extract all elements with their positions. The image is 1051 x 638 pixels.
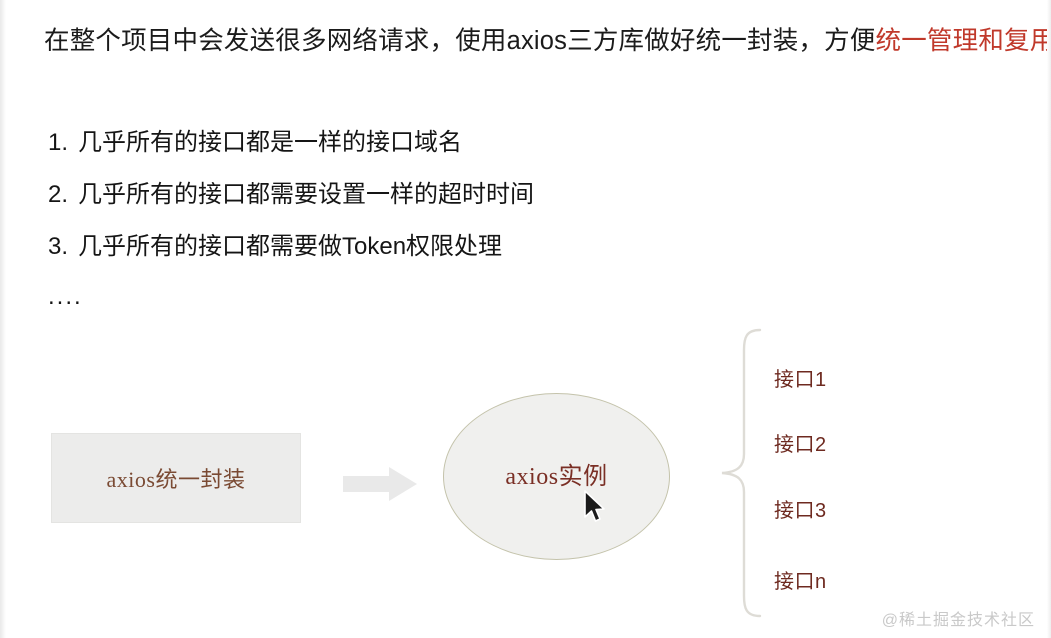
- list-item-label: 几乎所有的接口都是一样的接口域名: [78, 129, 462, 156]
- interface-label-n: 接口n: [774, 565, 827, 594]
- page-title: 在整个项目中会发送很多网络请求，使用axios三方库做好统一封装，方便统一管理和…: [44, 24, 1044, 58]
- page-title-accent: 统一管理和复用: [876, 27, 1051, 55]
- interface-label-1: 接口1: [774, 363, 827, 392]
- axios-wrapper-box-label: axios统一封装: [107, 462, 246, 494]
- list-item-number: 2.: [48, 180, 78, 210]
- interface-label-3: 接口3: [774, 494, 827, 523]
- list-item-label: 几乎所有的接口都需要设置一样的超时时间: [78, 181, 534, 208]
- list-item-number: 3.: [48, 232, 78, 262]
- list-item-number: 1.: [48, 128, 78, 158]
- list-item: 2.几乎所有的接口都需要设置一样的超时时间: [48, 180, 748, 210]
- slide-page: 在整个项目中会发送很多网络请求，使用axios三方库做好统一封装，方便统一管理和…: [0, 0, 1051, 638]
- page-title-plain: 在整个项目中会发送很多网络请求，使用axios三方库做好统一封装，方便: [44, 27, 876, 55]
- left-curly-brace-icon: [720, 328, 762, 618]
- axios-wrapper-box: axios统一封装: [51, 433, 301, 523]
- right-arrow-icon: [343, 466, 418, 502]
- list-ellipsis: ....: [48, 284, 748, 310]
- list-item: 1.几乎所有的接口都是一样的接口域名: [48, 128, 748, 158]
- axios-instance-label: axios实例: [505, 456, 607, 491]
- watermark: @稀土掘金技术社区: [882, 606, 1035, 630]
- axios-instance-ellipse: axios实例: [443, 393, 670, 560]
- bullet-list: 1.几乎所有的接口都是一样的接口域名 2.几乎所有的接口都需要设置一样的超时时间…: [48, 128, 748, 310]
- list-item-label: 几乎所有的接口都需要做Token权限处理: [78, 233, 502, 260]
- list-item: 3.几乎所有的接口都需要做Token权限处理: [48, 232, 748, 262]
- interface-label-2: 接口2: [774, 428, 827, 457]
